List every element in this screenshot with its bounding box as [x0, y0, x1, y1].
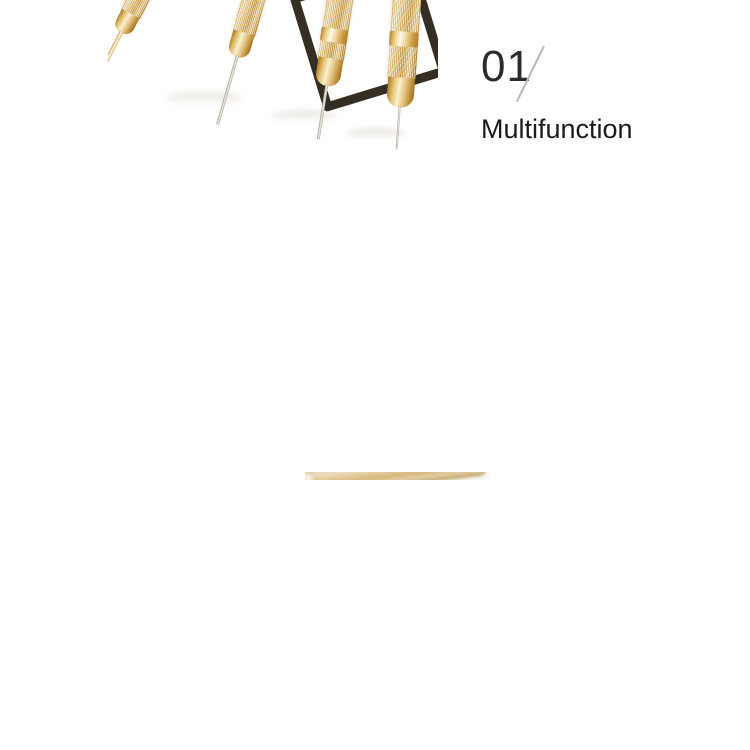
- tool-needle-tip: [317, 84, 329, 140]
- tool-cone: [314, 56, 343, 88]
- feature-caption-01: 01 Multifunction: [481, 44, 633, 145]
- tool-sharp-tip: [396, 105, 401, 149]
- feature-panel-round-hole-design: 03 Round hole design: [0, 480, 750, 750]
- product-photo-easy-to-store: [305, 472, 750, 480]
- feature-number-row: 01: [481, 44, 633, 96]
- feature-panel-easy-to-store: 02 Easy to store: [0, 230, 750, 480]
- product-photo-multifunction: [108, 0, 438, 205]
- feature-title: Multifunction: [481, 114, 633, 145]
- tool-cone: [226, 29, 254, 60]
- tool-needle-tip: [216, 55, 239, 125]
- tool-sharp-point: [364, 0, 438, 146]
- tool-cone: [386, 77, 415, 109]
- background-tool-blurred: [305, 472, 487, 480]
- tool-band: [389, 31, 419, 48]
- tool-shaft: [108, 30, 123, 87]
- product-feature-page: 01 Multifunction 02: [0, 0, 750, 750]
- feature-panel-multifunction: 01 Multifunction: [0, 0, 750, 230]
